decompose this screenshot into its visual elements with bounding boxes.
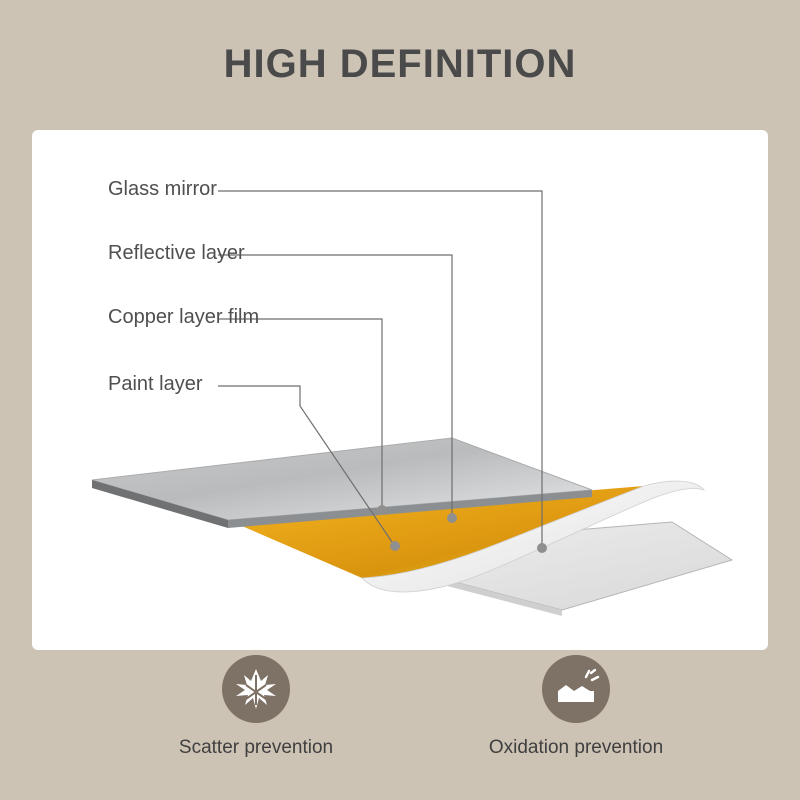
diagram-card: Glass mirror Reflective layer Copper lay… [32, 130, 768, 650]
feature-label-oxidation-prevention: Oxidation prevention [426, 737, 726, 759]
feature-label-scatter-prevention: Scatter prevention [106, 737, 406, 759]
scatter-icon-badge [222, 655, 290, 723]
layer-label-copper-layer-film: Copper layer film [108, 306, 259, 329]
feature-oxidation-prevention: Oxidation prevention [426, 655, 726, 759]
layer-label-glass-mirror: Glass mirror [108, 178, 217, 201]
oxidation-icon [542, 655, 610, 723]
layer-label-paint-layer: Paint layer [108, 373, 203, 396]
page-title: HIGH DEFINITION [0, 42, 800, 87]
shatter-icon [222, 655, 290, 723]
oxidation-icon-badge [542, 655, 610, 723]
feature-scatter-prevention: Scatter prevention [106, 655, 406, 759]
poster-root: HIGH DEFINITION [0, 0, 800, 800]
layer-label-reflective-layer: Reflective layer [108, 242, 245, 265]
feature-row: Scatter prevention Oxidation prevention [0, 655, 800, 800]
